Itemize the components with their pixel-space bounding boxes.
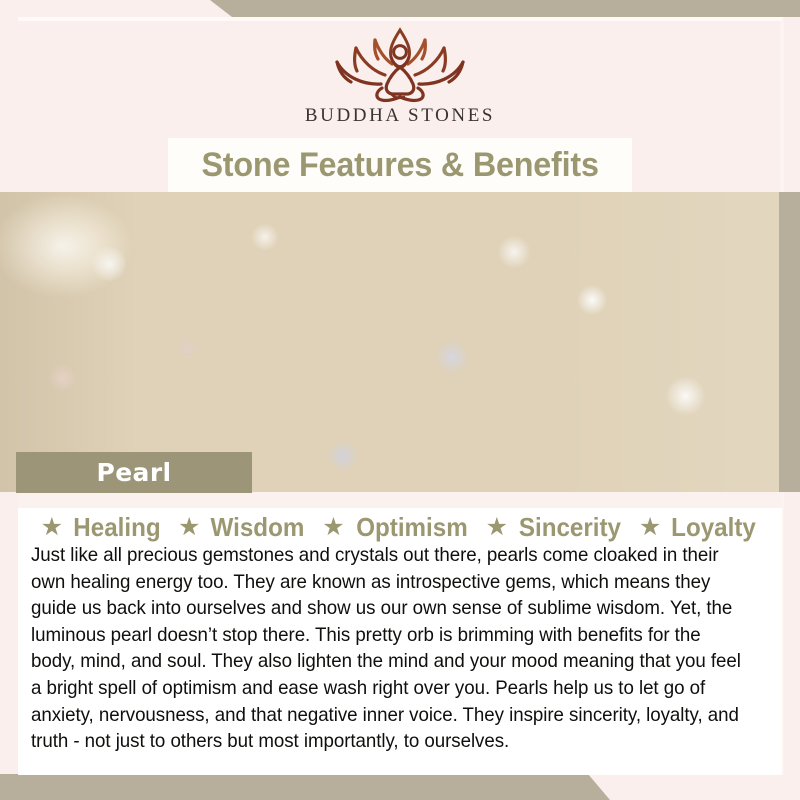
keyword-healing: ★ Healing xyxy=(41,512,164,543)
content-panel: ★ Healing ★ Wisdom ★ Optimism ★ Sincerit… xyxy=(18,492,782,775)
page-title-panel: Stone Features & Benefits xyxy=(168,138,632,192)
page-title: Stone Features & Benefits xyxy=(201,146,598,185)
photo-right-edge xyxy=(779,192,800,492)
pearl-photo xyxy=(0,192,779,492)
stone-description: Just like all precious gemstones and cry… xyxy=(31,542,747,755)
keyword-label: Sincerity xyxy=(519,512,621,543)
keyword-sincerity: ★ Sincerity xyxy=(486,512,625,543)
lotus-meditation-icon xyxy=(325,21,475,103)
star-icon: ★ xyxy=(41,515,63,540)
star-icon: ★ xyxy=(639,515,661,540)
keyword-label: Optimism xyxy=(356,512,468,543)
stone-name-bar: Pearl xyxy=(16,452,252,493)
star-icon: ★ xyxy=(178,515,200,540)
content-top-fade xyxy=(18,492,782,508)
keyword-label: Loyalty xyxy=(671,512,756,543)
keyword-wisdom: ★ Wisdom xyxy=(178,512,308,543)
photo-vignette-overlay xyxy=(0,192,779,492)
brand-header: BUDDHA STONES xyxy=(0,21,800,138)
brand-name: BUDDHA STONES xyxy=(305,105,495,127)
star-icon: ★ xyxy=(486,515,508,540)
keyword-loyalty: ★ Loyalty xyxy=(639,512,759,543)
stone-name: Pearl xyxy=(96,458,171,487)
photo-sheen-overlay xyxy=(0,192,779,492)
decorative-band-top xyxy=(0,0,800,17)
keyword-optimism: ★ Optimism xyxy=(322,512,471,543)
keyword-label: Wisdom xyxy=(211,512,305,543)
benefit-keywords-row: ★ Healing ★ Wisdom ★ Optimism ★ Sincerit… xyxy=(18,512,782,543)
star-icon: ★ xyxy=(322,515,344,540)
decorative-band-bottom xyxy=(0,774,800,800)
keyword-label: Healing xyxy=(73,512,160,543)
